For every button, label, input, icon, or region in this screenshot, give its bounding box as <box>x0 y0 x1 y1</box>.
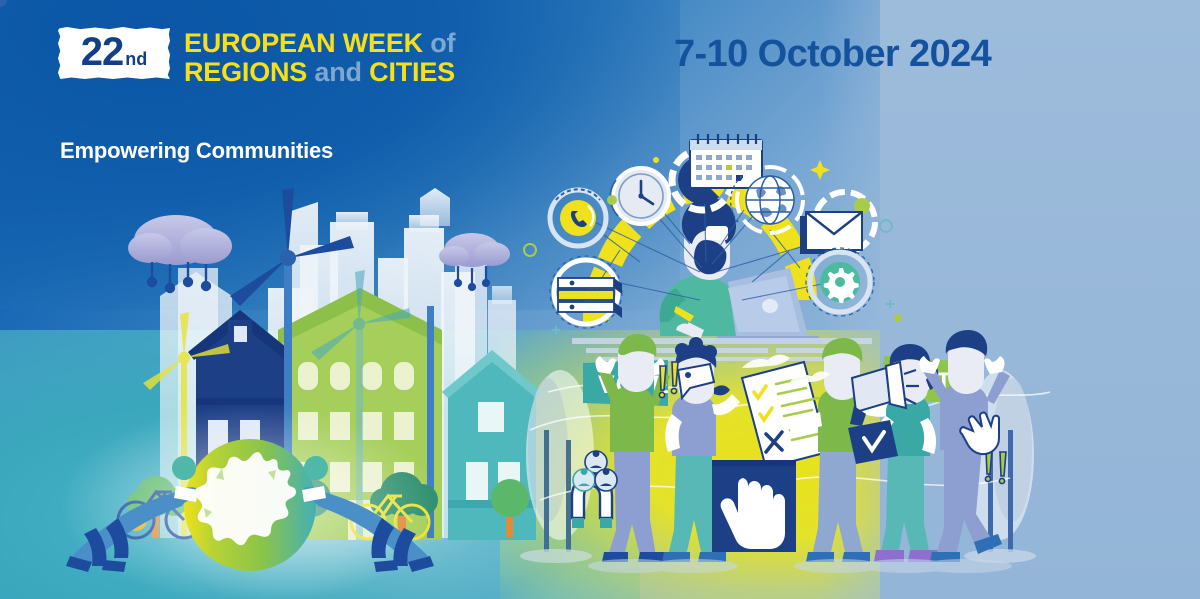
event-tagline: Empowering Communities <box>60 138 333 164</box>
clock-icon <box>610 168 669 224</box>
edition-ordinal: nd <box>125 50 147 68</box>
edition-badge: 22 nd <box>58 27 170 79</box>
event-date: 7-10 October 2024 <box>674 33 991 76</box>
phone-icon <box>550 189 606 246</box>
calendar-icon <box>690 134 762 188</box>
illustration-artwork: VOTE VOTE <box>0 0 1200 599</box>
event-logo: 22 nd EUROPEAN WEEK of REGIONS and CITIE… <box>58 27 455 86</box>
title-and: and <box>307 57 369 87</box>
event-title: EUROPEAN WEEK of REGIONS and CITIES <box>184 27 455 86</box>
title-of: of <box>423 28 455 58</box>
gear-icon <box>806 248 874 316</box>
ground-shadows <box>588 559 1012 573</box>
title-line-2: REGIONS and CITIES <box>184 58 455 87</box>
ballot-box <box>712 460 796 552</box>
event-banner: VOTE VOTE <box>0 0 1200 599</box>
title-regions: REGIONS <box>184 57 307 87</box>
person-at-laptop <box>660 198 742 340</box>
edition-number: 22 <box>81 32 124 72</box>
title-line-1: EUROPEAN WEEK of <box>184 29 455 58</box>
envelope-icon <box>800 192 875 254</box>
title-european-week: EUROPEAN WEEK <box>184 28 423 58</box>
title-cities: CITIES <box>369 57 455 87</box>
